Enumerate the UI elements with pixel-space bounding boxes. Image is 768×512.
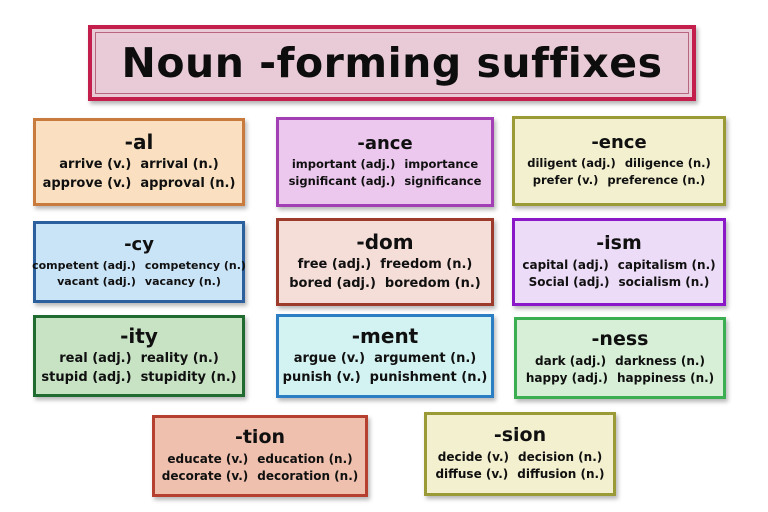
base-word: approve (v.) bbox=[43, 176, 132, 192]
derived-word: vacancy (n.) bbox=[145, 275, 221, 288]
base-word: decide (v.) bbox=[438, 450, 509, 464]
example-row: punish (v.) punishment (n.) bbox=[283, 370, 488, 386]
derived-word: darkness (n.) bbox=[615, 354, 705, 368]
example-row: diligent (adj.) diligence (n.) bbox=[527, 157, 711, 171]
example-row: bored (adj.) boredom (n.) bbox=[289, 276, 481, 292]
page-title: Noun -forming suffixes bbox=[122, 39, 663, 87]
base-word: stupid (adj.) bbox=[41, 370, 131, 386]
example-row: competent (adj.) competency (n.) bbox=[32, 259, 246, 272]
base-word: vacant (adj.) bbox=[57, 275, 136, 288]
derived-word: reality (n.) bbox=[141, 351, 219, 367]
suffix-label-sion: -sion bbox=[494, 424, 546, 448]
example-list-al: arrive (v.) arrival (n.) approve (v.) ap… bbox=[42, 157, 236, 191]
example-row: educate (v.) education (n.) bbox=[167, 452, 352, 466]
derived-word: stupidity (n.) bbox=[141, 370, 237, 386]
example-row: argue (v.) argument (n.) bbox=[294, 351, 477, 367]
base-word: diffuse (v.) bbox=[435, 467, 508, 481]
suffix-label-al: -al bbox=[125, 130, 154, 155]
derived-word: punishment (n.) bbox=[370, 370, 488, 386]
example-row: stupid (adj.) stupidity (n.) bbox=[41, 370, 236, 386]
example-list-ence: diligent (adj.) diligence (n.) prefer (v… bbox=[521, 157, 717, 188]
base-word: dark (adj.) bbox=[535, 354, 606, 368]
suffix-card-tion: -tion educate (v.) education (n.) decora… bbox=[152, 415, 368, 497]
example-list-ness: dark (adj.) darkness (n.) happy (adj.) h… bbox=[523, 354, 717, 386]
base-word: educate (v.) bbox=[167, 452, 248, 466]
derived-word: education (n.) bbox=[257, 452, 352, 466]
example-row: decide (v.) decision (n.) bbox=[438, 450, 602, 464]
suffix-card-ness: -ness dark (adj.) darkness (n.) happy (a… bbox=[514, 317, 726, 399]
suffix-card-cy: -cy competent (adj.) competency (n.) vac… bbox=[33, 221, 245, 303]
suffix-label-ment: -ment bbox=[352, 324, 419, 349]
derived-word: decision (n.) bbox=[518, 450, 602, 464]
suffix-label-ence: -ence bbox=[591, 132, 646, 155]
base-word: punish (v.) bbox=[283, 370, 361, 386]
base-word: competent (adj.) bbox=[32, 259, 136, 272]
suffix-card-ance: -ance important (adj.) importance signif… bbox=[276, 117, 494, 207]
example-row: real (adj.) reality (n.) bbox=[59, 351, 219, 367]
derived-word: happiness (n.) bbox=[617, 371, 714, 385]
example-row: important (adj.) importance bbox=[292, 158, 478, 172]
example-list-cy: competent (adj.) competency (n.) vacant … bbox=[42, 259, 236, 288]
derived-word: arrival (n.) bbox=[140, 157, 218, 173]
suffix-card-ence: -ence diligent (adj.) diligence (n.) pre… bbox=[512, 116, 726, 206]
example-row: diffuse (v.) diffusion (n.) bbox=[435, 467, 604, 481]
derived-word: diffusion (n.) bbox=[517, 467, 604, 481]
example-row: free (adj.) freedom (n.) bbox=[298, 257, 473, 273]
base-word: argue (v.) bbox=[294, 351, 365, 367]
base-word: happy (adj.) bbox=[526, 371, 608, 385]
derived-word: importance bbox=[404, 158, 478, 172]
derived-word: freedom (n.) bbox=[380, 257, 472, 273]
base-word: real (adj.) bbox=[59, 351, 131, 367]
example-list-tion: educate (v.) education (n.) decorate (v.… bbox=[161, 452, 359, 484]
suffix-label-cy: -cy bbox=[124, 234, 154, 257]
example-list-ity: real (adj.) reality (n.) stupid (adj.) s… bbox=[42, 351, 236, 385]
suffix-label-ism: -ism bbox=[596, 232, 642, 256]
base-word: important (adj.) bbox=[292, 158, 396, 172]
base-word: arrive (v.) bbox=[59, 157, 131, 173]
derived-word: diligence (n.) bbox=[625, 157, 711, 171]
suffix-label-ness: -ness bbox=[592, 328, 649, 352]
suffix-label-tion: -tion bbox=[235, 426, 285, 450]
suffix-label-ity: -ity bbox=[120, 324, 158, 349]
derived-word: argument (n.) bbox=[374, 351, 476, 367]
base-word: Social (adj.) bbox=[529, 275, 610, 289]
example-list-ism: capital (adj.) capitalism (n.) Social (a… bbox=[521, 258, 717, 290]
derived-word: preference (n.) bbox=[607, 174, 705, 188]
derived-word: significance bbox=[404, 175, 481, 189]
suffix-card-ment: -ment argue (v.) argument (n.) punish (v… bbox=[276, 314, 494, 398]
base-word: diligent (adj.) bbox=[527, 157, 616, 171]
derived-word: decoration (n.) bbox=[257, 469, 358, 483]
example-list-sion: decide (v.) decision (n.) diffuse (v.) d… bbox=[433, 450, 607, 482]
example-row: decorate (v.) decoration (n.) bbox=[162, 469, 359, 483]
derived-word: approval (n.) bbox=[140, 176, 235, 192]
base-word: significant (adj.) bbox=[289, 175, 396, 189]
suffix-poster: Noun -forming suffixes -al arrive (v.) a… bbox=[0, 0, 768, 512]
base-word: capital (adj.) bbox=[522, 258, 608, 272]
example-row: arrive (v.) arrival (n.) bbox=[59, 157, 218, 173]
suffix-card-ism: -ism capital (adj.) capitalism (n.) Soci… bbox=[512, 218, 726, 306]
base-word: bored (adj.) bbox=[289, 276, 376, 292]
example-list-ment: argue (v.) argument (n.) punish (v.) pun… bbox=[285, 351, 485, 385]
example-list-ance: important (adj.) importance significant … bbox=[285, 158, 485, 189]
derived-word: boredom (n.) bbox=[385, 276, 481, 292]
suffix-card-dom: -dom free (adj.) freedom (n.) bored (adj… bbox=[276, 218, 494, 306]
example-row: happy (adj.) happiness (n.) bbox=[526, 371, 714, 385]
example-row: dark (adj.) darkness (n.) bbox=[535, 354, 705, 368]
suffix-label-dom: -dom bbox=[356, 230, 413, 255]
derived-word: capitalism (n.) bbox=[618, 258, 716, 272]
suffix-card-al: -al arrive (v.) arrival (n.) approve (v.… bbox=[33, 118, 245, 206]
base-word: prefer (v.) bbox=[533, 174, 599, 188]
example-list-dom: free (adj.) freedom (n.) bored (adj.) bo… bbox=[285, 257, 485, 291]
base-word: free (adj.) bbox=[298, 257, 372, 273]
base-word: decorate (v.) bbox=[162, 469, 249, 483]
poster-title-banner: Noun -forming suffixes bbox=[88, 25, 696, 101]
example-row: significant (adj.) significance bbox=[289, 175, 482, 189]
suffix-card-ity: -ity real (adj.) reality (n.) stupid (ad… bbox=[33, 315, 245, 397]
example-row: prefer (v.) preference (n.) bbox=[533, 174, 705, 188]
poster-title-inner: Noun -forming suffixes bbox=[95, 32, 689, 94]
example-row: vacant (adj.) vacancy (n.) bbox=[57, 275, 221, 288]
example-row: approve (v.) approval (n.) bbox=[43, 176, 236, 192]
suffix-card-sion: -sion decide (v.) decision (n.) diffuse … bbox=[424, 412, 616, 496]
derived-word: socialism (n.) bbox=[619, 275, 710, 289]
example-row: capital (adj.) capitalism (n.) bbox=[522, 258, 715, 272]
derived-word: competency (n.) bbox=[145, 259, 246, 272]
suffix-label-ance: -ance bbox=[357, 133, 412, 156]
example-row: Social (adj.) socialism (n.) bbox=[529, 275, 710, 289]
